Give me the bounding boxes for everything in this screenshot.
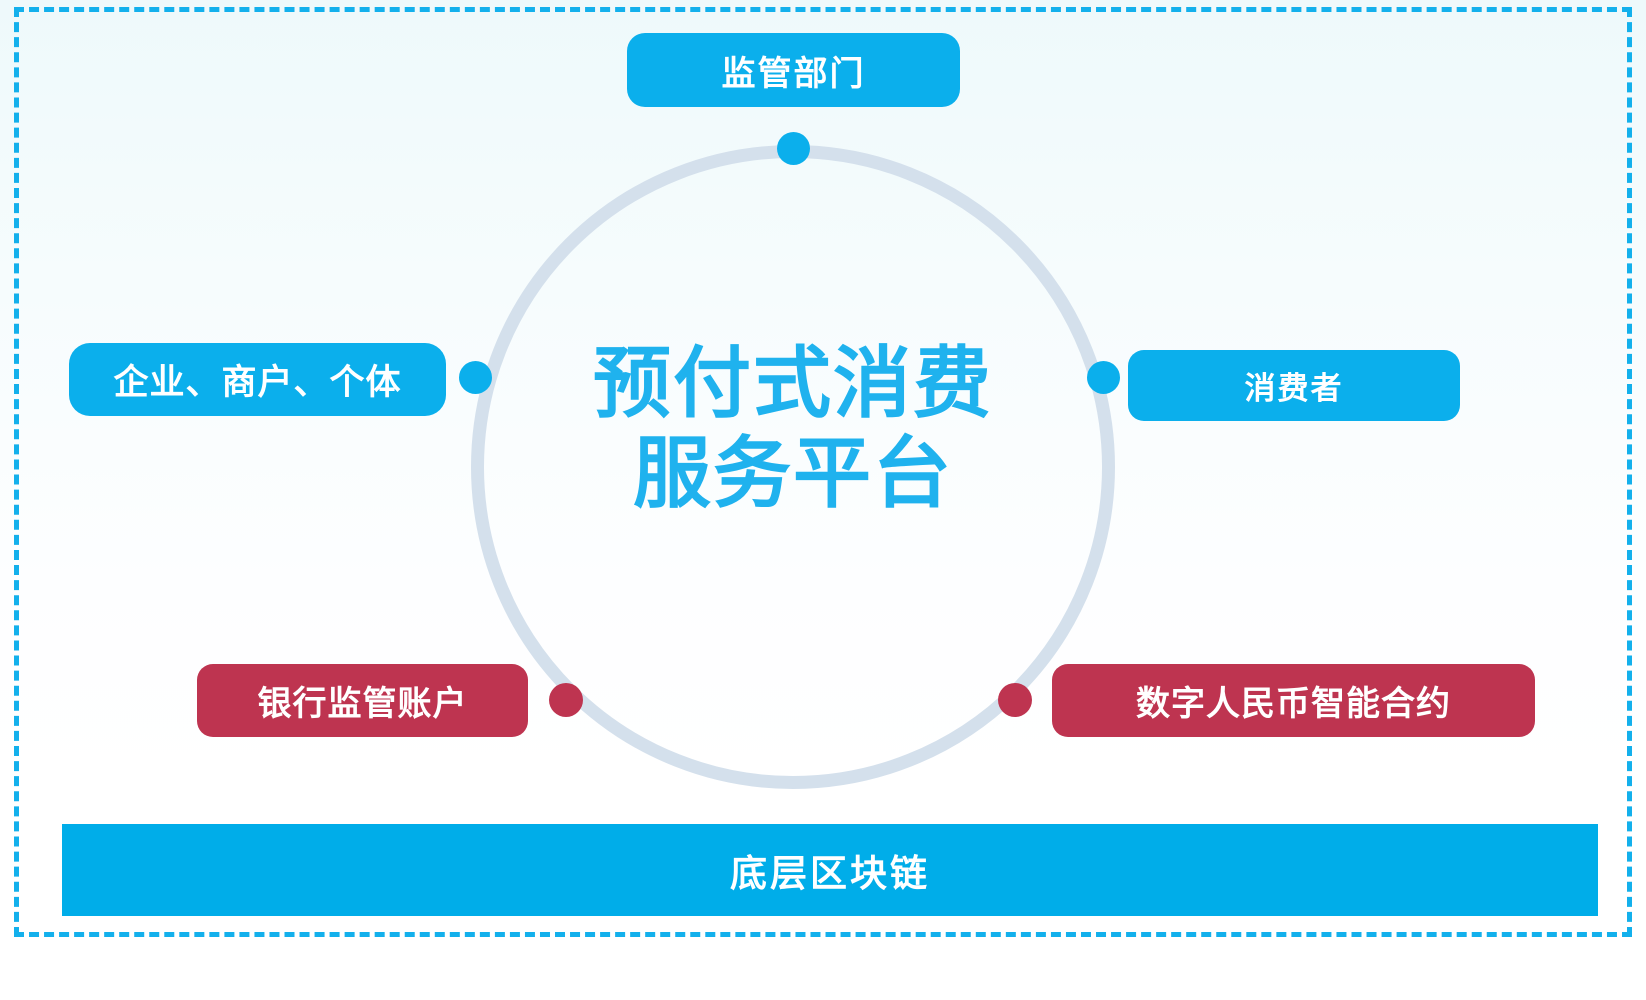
node-label-digital-rmb-smart-contract[interactable]: 数字人民币智能合约	[1052, 664, 1535, 737]
diagram-canvas: 预付式消费 服务平台 监管部门 企业、商户、个体 消费者 银行监管账户 数字人民…	[0, 0, 1646, 1000]
node-label-bank-supervision-account[interactable]: 银行监管账户	[197, 664, 528, 737]
node-label-consumers[interactable]: 消费者	[1128, 350, 1460, 421]
node-dot-bottom-right	[998, 683, 1032, 717]
node-dot-left	[459, 361, 492, 394]
center-platform-title: 预付式消费 服务平台	[533, 338, 1053, 519]
node-dot-top	[777, 132, 810, 165]
node-dot-bottom-left	[549, 683, 583, 717]
node-label-enterprises-merchants-individuals[interactable]: 企业、商户、个体	[69, 343, 446, 416]
node-label-regulatory-department[interactable]: 监管部门	[627, 33, 960, 107]
node-dot-right	[1087, 361, 1120, 394]
base-layer-blockchain-bar[interactable]: 底层区块链	[62, 824, 1598, 916]
